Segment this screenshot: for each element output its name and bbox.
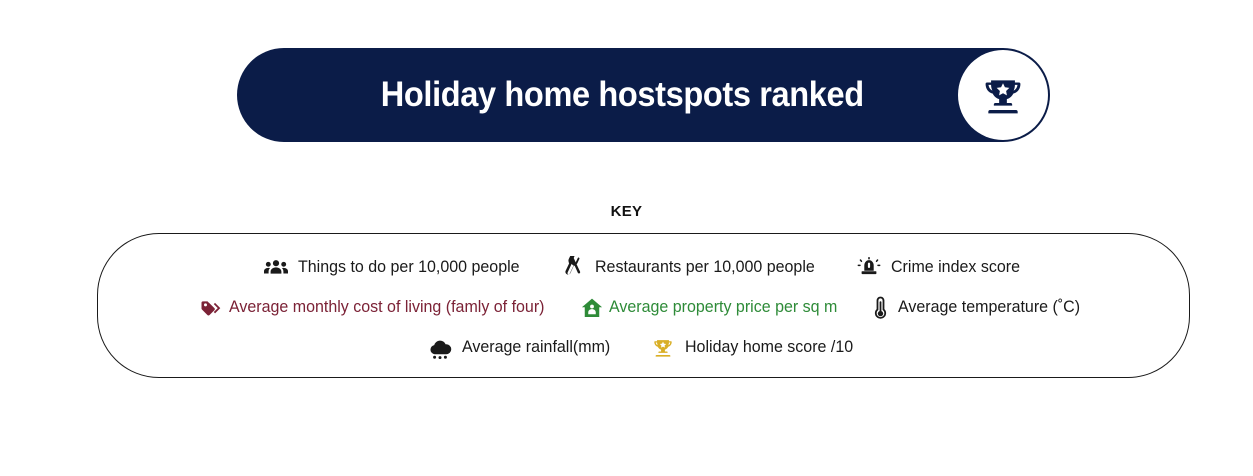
key-row: Average rainfall(mm) Holiday home score … xyxy=(98,328,1189,368)
title-banner: Holiday home hostspots ranked xyxy=(237,48,1050,142)
key-item-cost-of-living: Average monthly cost of living (famly of… xyxy=(201,297,554,319)
price-tag-icon xyxy=(201,297,223,319)
key-item-label: Crime index score xyxy=(891,258,1020,277)
house-icon xyxy=(581,297,603,319)
key-item-label: Things to do per 10,000 people xyxy=(298,258,520,277)
key-item-label: Average monthly cost of living (famly of… xyxy=(229,298,544,317)
page-title: Holiday home hostspots ranked xyxy=(381,75,907,115)
key-item-label: Average property price per sq m xyxy=(609,298,837,317)
fork-knife-icon xyxy=(560,256,585,279)
key-item-label: Average temperature (˚C) xyxy=(898,298,1080,317)
key-legend-box: Things to do per 10,000 people Restauran… xyxy=(97,233,1190,378)
key-heading: KEY xyxy=(0,203,1253,220)
key-item-label: Restaurants per 10,000 people xyxy=(595,258,815,277)
key-item-property-price: Average property price per sq m xyxy=(581,297,844,319)
key-item-things-to-do: Things to do per 10,000 people xyxy=(263,258,526,278)
trophy-badge xyxy=(958,50,1048,140)
key-item-restaurants: Restaurants per 10,000 people xyxy=(560,256,822,279)
key-item-temperature: Average temperature (˚C) xyxy=(870,296,1086,320)
rain-cloud-icon xyxy=(428,337,452,359)
trophy-icon xyxy=(981,73,1025,117)
key-item-rainfall: Average rainfall(mm) xyxy=(428,337,615,359)
key-item-crime-index: Crime index score xyxy=(856,257,1024,278)
thermometer-icon xyxy=(870,296,892,320)
key-row: Average monthly cost of living (famly of… xyxy=(98,288,1189,328)
key-row: Things to do per 10,000 people Restauran… xyxy=(98,248,1189,288)
key-item-label: Average rainfall(mm) xyxy=(462,338,610,357)
people-group-icon xyxy=(263,258,288,278)
key-item-label: Holiday home score /10 xyxy=(685,338,853,357)
siren-icon xyxy=(856,257,881,278)
key-item-holiday-home-score: Holiday home score /10 xyxy=(651,336,858,359)
trophy-icon xyxy=(651,336,675,359)
